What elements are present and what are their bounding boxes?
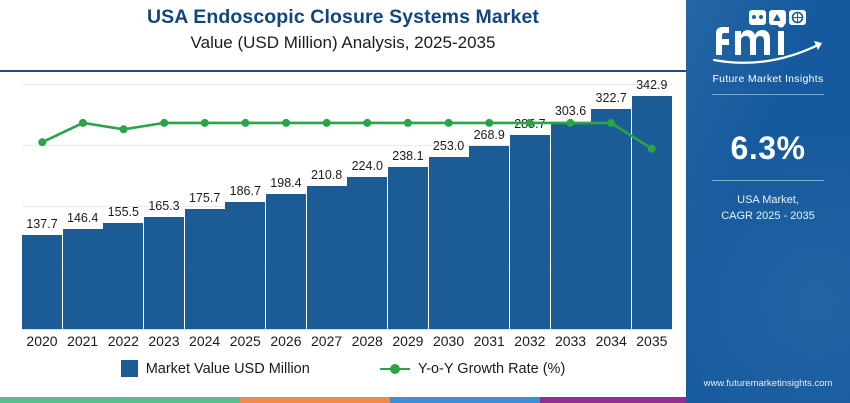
- x-axis-label: 2032: [510, 333, 550, 349]
- growth-rate-point: [607, 119, 615, 127]
- color-strip-segment: [240, 397, 390, 403]
- legend-label-market-value: Market Value USD Million: [146, 361, 310, 377]
- x-axis: [22, 329, 672, 330]
- growth-rate-point: [241, 119, 249, 127]
- growth-rate-point: [282, 119, 290, 127]
- growth-rate-point: [79, 119, 87, 127]
- brand-panel: Future Market Insights 6.3% USA Market, …: [686, 0, 850, 403]
- growth-rate-point: [120, 125, 128, 133]
- brand-divider: [712, 94, 824, 95]
- x-axis-label: 2025: [225, 333, 265, 349]
- growth-rate-point: [363, 119, 371, 127]
- x-axis-label: 2029: [388, 333, 428, 349]
- title-block: USA Endoscopic Closure Systems Market Va…: [0, 4, 686, 56]
- growth-rate-line: [42, 123, 651, 149]
- x-axis-tick-labels: 2020202120222023202420252026202720282029…: [22, 333, 672, 349]
- footer-color-strip: [0, 397, 686, 403]
- x-axis-label: 2020: [22, 333, 62, 349]
- x-axis-label: 2024: [185, 333, 225, 349]
- x-axis-label: 2028: [347, 333, 387, 349]
- color-strip-segment: [0, 397, 240, 403]
- growth-rate-point: [323, 119, 331, 127]
- growth-rate-point: [526, 119, 534, 127]
- growth-rate-point: [38, 138, 46, 146]
- growth-rate-line-series: [22, 84, 672, 329]
- x-axis-label: 2026: [266, 333, 306, 349]
- x-axis-label: 2031: [469, 333, 509, 349]
- legend-line-swatch-icon: [380, 362, 410, 376]
- chart-legend: Market Value USD Million Y-o-Y Growth Ra…: [0, 360, 686, 377]
- page-subtitle: Value (USD Million) Analysis, 2025-2035: [0, 30, 686, 56]
- cagr-divider: [712, 180, 824, 181]
- x-axis-label: 2023: [144, 333, 184, 349]
- growth-rate-point: [201, 119, 209, 127]
- chart-infographic: USA Endoscopic Closure Systems Market Va…: [0, 0, 850, 403]
- website-url: www.futuremarketinsights.com: [686, 378, 850, 389]
- cagr-caption: USA Market, CAGR 2025 - 2035: [686, 192, 850, 224]
- legend-bar-swatch-icon: [121, 360, 138, 377]
- growth-rate-point: [404, 119, 412, 127]
- legend-item-market-value: Market Value USD Million: [121, 360, 310, 377]
- x-axis-label: 2034: [591, 333, 631, 349]
- cagr-caption-line-1: USA Market,: [686, 192, 850, 208]
- growth-rate-point: [566, 119, 574, 127]
- growth-rate-point: [485, 119, 493, 127]
- growth-rate-point: [445, 119, 453, 127]
- color-strip-segment: [540, 397, 686, 403]
- plot-area: 137.7146.4155.5165.3175.7186.7198.4210.8…: [22, 84, 672, 329]
- x-axis-label: 2022: [103, 333, 143, 349]
- x-axis-label: 2033: [551, 333, 591, 349]
- fmi-logo-icon: [702, 8, 834, 66]
- fmi-logo: Future Market Insights: [686, 8, 850, 85]
- x-axis-label: 2021: [63, 333, 103, 349]
- growth-rate-point: [648, 145, 656, 153]
- cagr-caption-line-2: CAGR 2025 - 2035: [686, 208, 850, 224]
- x-axis-label: 2035: [632, 333, 672, 349]
- legend-item-growth-rate: Y-o-Y Growth Rate (%): [380, 361, 565, 377]
- title-divider: [0, 70, 686, 72]
- fmi-logo-subtitle: Future Market Insights: [686, 73, 850, 85]
- x-axis-label: 2030: [429, 333, 469, 349]
- chart-panel: USA Endoscopic Closure Systems Market Va…: [0, 0, 686, 403]
- color-strip-segment: [390, 397, 540, 403]
- page-title: USA Endoscopic Closure Systems Market: [0, 4, 686, 30]
- x-axis-label: 2027: [307, 333, 347, 349]
- legend-label-growth-rate: Y-o-Y Growth Rate (%): [418, 361, 565, 377]
- cagr-value: 6.3%: [686, 130, 850, 167]
- growth-rate-point: [160, 119, 168, 127]
